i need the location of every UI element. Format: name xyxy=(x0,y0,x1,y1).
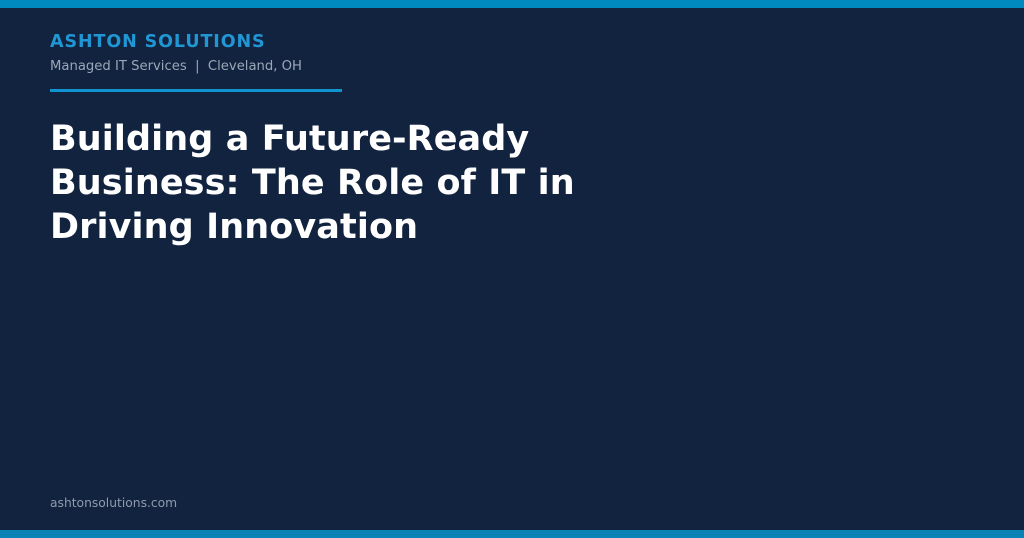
headline-line-3: Driving Innovation xyxy=(50,205,710,249)
top-accent-bar xyxy=(0,0,1024,8)
headline-line-2: Business: The Role of IT in xyxy=(50,161,710,205)
brand-name: ASHTON SOLUTIONS xyxy=(50,31,650,53)
brand-tagline: Managed IT Services | Cleveland, OH xyxy=(50,57,650,77)
footer-website[interactable]: ashtonsolutions.com xyxy=(50,495,177,511)
title-slide: ASHTON SOLUTIONS Managed IT Services | C… xyxy=(0,0,1024,538)
bottom-accent-bar xyxy=(0,530,1024,538)
brand-divider-rule xyxy=(50,89,342,92)
headline-line-1: Building a Future-Ready xyxy=(50,117,710,161)
brand-block: ASHTON SOLUTIONS Managed IT Services | C… xyxy=(50,31,650,92)
page-title: Building a Future-Ready Business: The Ro… xyxy=(50,117,710,249)
